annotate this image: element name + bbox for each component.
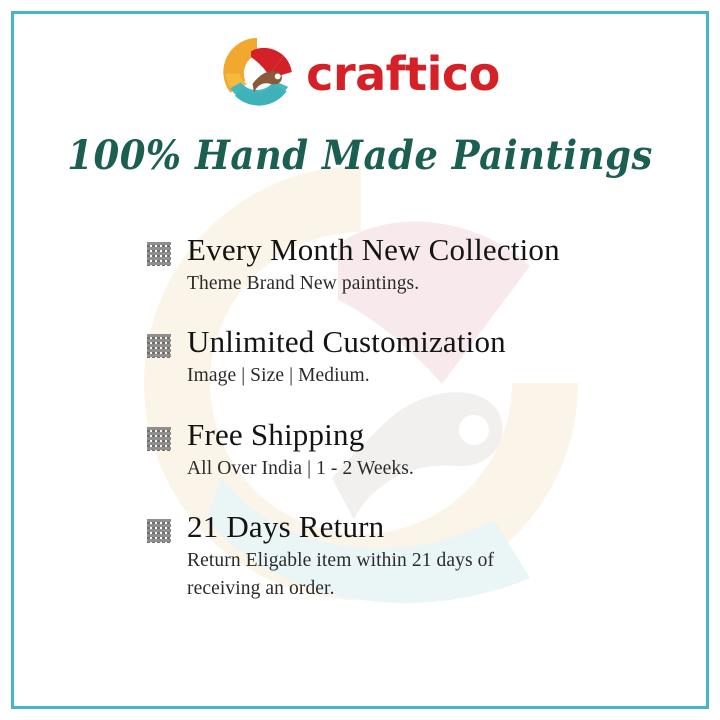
woven-grid-bullet-icon	[146, 518, 172, 544]
feature-subtitle: Image | Size | Medium.	[187, 362, 616, 390]
woven-grid-bullet-icon	[146, 241, 172, 267]
craft-brush-c-logo-icon	[220, 35, 294, 109]
feature-title: 21 Days Return	[187, 510, 616, 545]
feature-list: Every Month New Collection Theme Brand N…	[146, 233, 616, 602]
woven-grid-bullet-icon	[146, 426, 172, 452]
promo-banner: craftico 100% Hand Made Paintings	[0, 0, 720, 720]
feature-title: Free Shipping	[187, 418, 616, 453]
list-item: Every Month New Collection Theme Brand N…	[146, 233, 616, 297]
list-item: Unlimited Customization Image | Size | M…	[146, 325, 616, 389]
feature-subtitle: All Over India | 1 - 2 Weeks.	[187, 455, 616, 483]
list-item: Free Shipping All Over India | 1 - 2 Wee…	[146, 418, 616, 482]
feature-subtitle: Theme Brand New paintings.	[187, 270, 616, 298]
woven-grid-bullet-icon	[146, 333, 172, 359]
page-title: 100% Hand Made Paintings	[0, 131, 720, 179]
feature-title: Every Month New Collection	[187, 233, 616, 268]
brand-logo-lockup: craftico	[0, 33, 720, 111]
feature-subtitle: Return Eligable item within 21 days of r…	[187, 547, 557, 602]
list-item: 21 Days Return Return Eligable item with…	[146, 510, 616, 602]
brand-wordmark: craftico	[306, 51, 500, 97]
feature-title: Unlimited Customization	[187, 325, 616, 360]
